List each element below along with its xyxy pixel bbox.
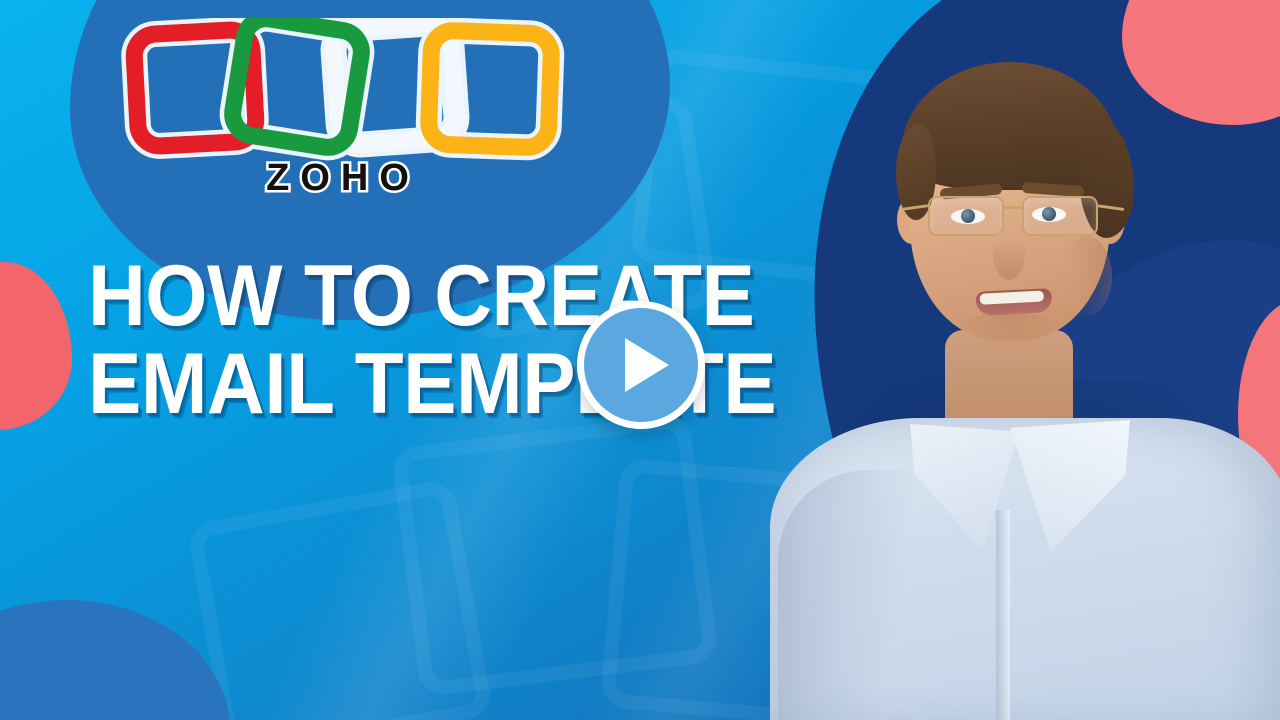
play-triangle-icon (625, 338, 669, 392)
presenter-shirt-shading (778, 470, 938, 720)
presenter-shirt-placket (996, 510, 1010, 720)
presenter-photo (760, 0, 1280, 720)
play-button[interactable] (577, 301, 705, 429)
presenter-nose (993, 228, 1025, 280)
video-thumbnail: ZOHO HOW TO CREATE EMAIL TEMPLATE (0, 0, 1280, 720)
glasses-lens-right (1022, 196, 1098, 236)
zoho-logo: ZOHO (118, 18, 568, 208)
presenter-cheek-shading (1060, 236, 1112, 316)
presenter-chin-shading (956, 312, 1064, 352)
zoho-wordmark: ZOHO (266, 157, 420, 199)
presenter-teeth (980, 290, 1044, 304)
glasses-bridge (1004, 206, 1024, 209)
page-title: HOW TO CREATE EMAIL TEMPLATE (88, 254, 828, 427)
